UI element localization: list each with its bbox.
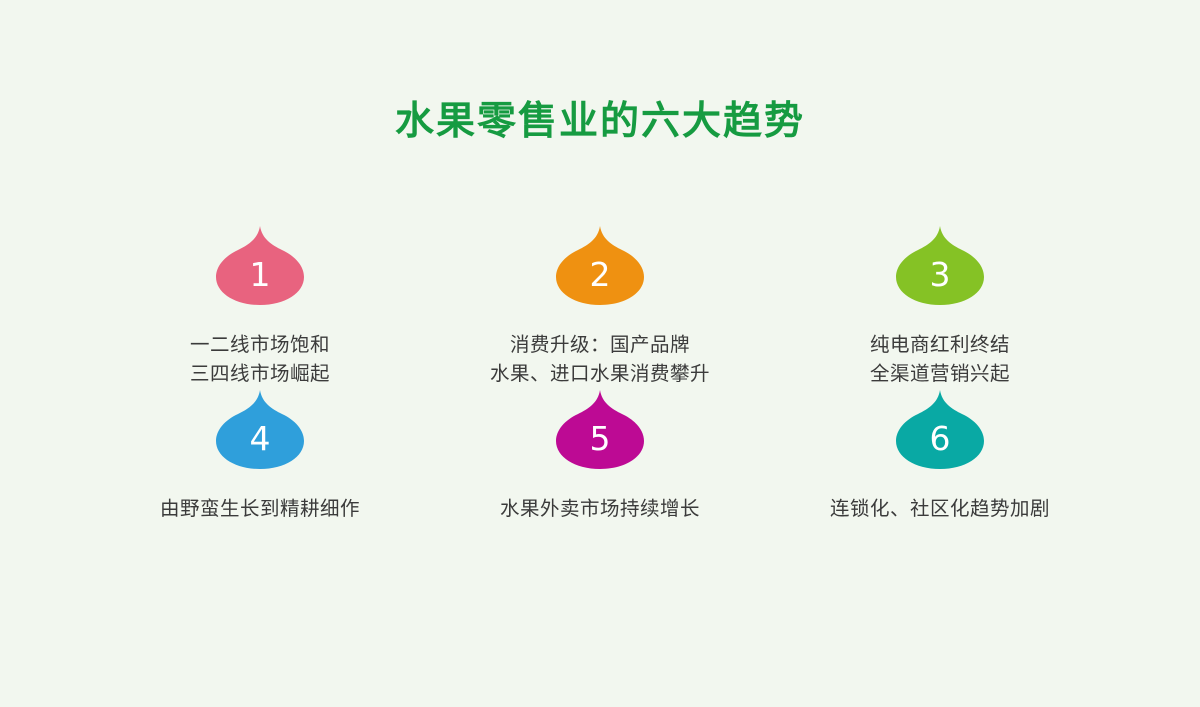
trend-badge-3: 3: [892, 225, 988, 307]
trend-item-6: 6 连锁化、社区化趋势加剧: [770, 389, 1110, 524]
caption-line: 三四线市场崛起: [190, 360, 330, 389]
caption-line: 消费升级：国产品牌: [490, 331, 710, 360]
trend-badge-1: 1: [212, 225, 308, 307]
trend-number-2: 2: [590, 258, 611, 291]
trend-item-3: 3 纯电商红利终结 全渠道营销兴起: [770, 225, 1110, 389]
trend-number-5: 5: [590, 422, 611, 455]
caption-line: 一二线市场饱和: [190, 331, 330, 360]
caption-line: 全渠道营销兴起: [870, 360, 1010, 389]
trend-number-6: 6: [930, 422, 951, 455]
trend-badge-4: 4: [212, 389, 308, 471]
caption-line: 纯电商红利终结: [870, 331, 1010, 360]
trend-caption-2: 消费升级：国产品牌 水果、进口水果消费攀升: [490, 331, 710, 389]
trend-badge-5: 5: [552, 389, 648, 471]
trend-number-1: 1: [250, 258, 271, 291]
trend-badge-6: 6: [892, 389, 988, 471]
caption-line: 由野蛮生长到精耕细作: [160, 495, 360, 524]
trend-grid: 1 一二线市场饱和 三四线市场崛起 2 消费升级：国产品牌 水果、进口水果消费攀…: [90, 225, 1110, 524]
trend-caption-3: 纯电商红利终结 全渠道营销兴起: [870, 331, 1010, 389]
caption-line: 连锁化、社区化趋势加剧: [830, 495, 1050, 524]
caption-line: 水果外卖市场持续增长: [500, 495, 700, 524]
trend-caption-6: 连锁化、社区化趋势加剧: [830, 495, 1050, 524]
caption-line: 水果、进口水果消费攀升: [490, 360, 710, 389]
trend-badge-2: 2: [552, 225, 648, 307]
trend-item-2: 2 消费升级：国产品牌 水果、进口水果消费攀升: [430, 225, 770, 389]
trend-item-1: 1 一二线市场饱和 三四线市场崛起: [90, 225, 430, 389]
trend-number-3: 3: [930, 258, 951, 291]
trend-caption-5: 水果外卖市场持续增长: [500, 495, 700, 524]
trend-caption-4: 由野蛮生长到精耕细作: [160, 495, 360, 524]
trend-number-4: 4: [250, 422, 271, 455]
page-title: 水果零售业的六大趋势: [0, 96, 1200, 148]
trend-item-4: 4 由野蛮生长到精耕细作: [90, 389, 430, 524]
trend-item-5: 5 水果外卖市场持续增长: [430, 389, 770, 524]
infographic-canvas: 水果零售业的六大趋势 1 一二线市场饱和 三四线市场崛起 2 消: [0, 0, 1200, 707]
trend-caption-1: 一二线市场饱和 三四线市场崛起: [190, 331, 330, 389]
